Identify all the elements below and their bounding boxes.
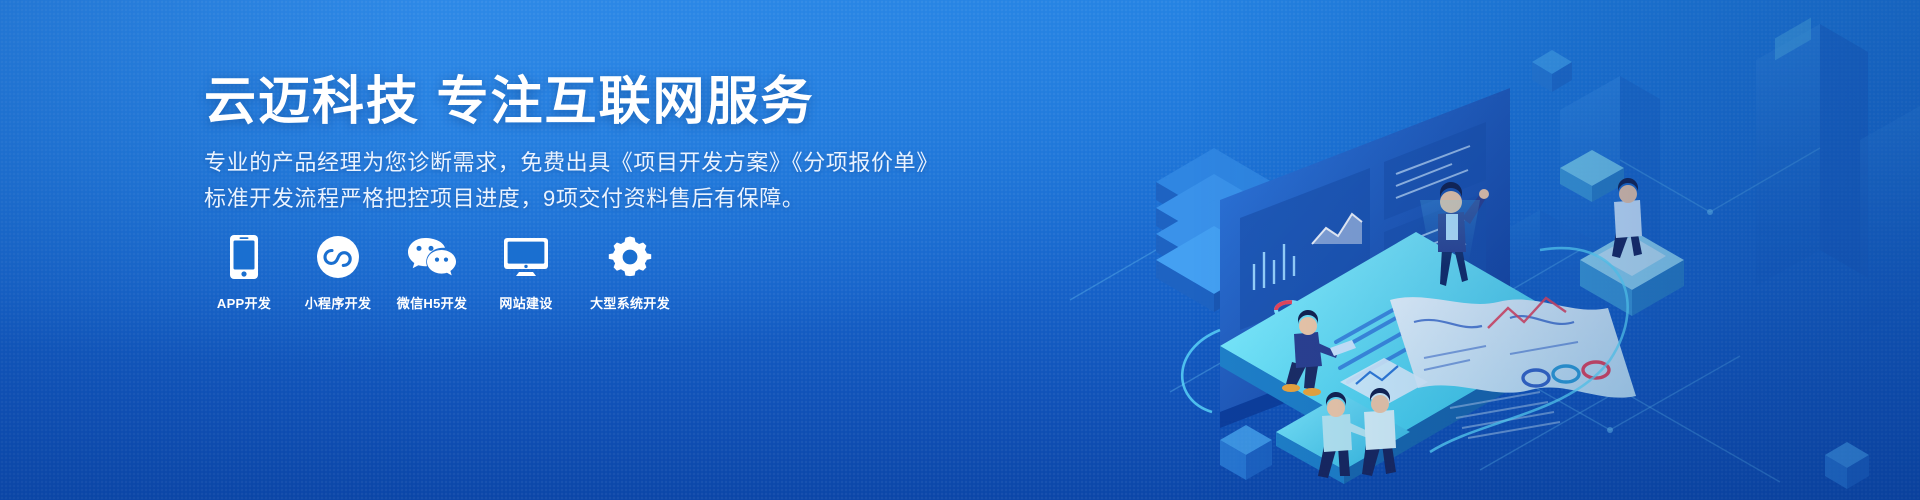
gear-icon: [602, 232, 658, 282]
service-item-mini-program[interactable]: 小程序开发: [302, 232, 374, 312]
service-item-large-system[interactable]: 大型系统开发: [584, 232, 676, 312]
service-list: APP开发 小程序开发: [208, 232, 676, 312]
subtitle-line-1: 专业的产品经理为您诊断需求，免费出具《项目开发方案》《分项报价单》: [204, 150, 939, 175]
service-item-app[interactable]: APP开发: [208, 232, 280, 312]
hero-banner: 云迈科技 专注互联网服务 专业的产品经理为您诊断需求，免费出具《项目开发方案》《…: [0, 0, 1920, 500]
subtitle-line-2: 标准开发流程严格把控项目进度，9项交付资料售后有保障。: [204, 181, 939, 217]
service-item-website[interactable]: 网站建设: [490, 232, 562, 312]
mobile-phone-icon: [216, 232, 272, 282]
hero-content: 云迈科技 专注互联网服务 专业的产品经理为您诊断需求，免费出具《项目开发方案》《…: [204, 0, 924, 500]
hero-subtitle: 专业的产品经理为您诊断需求，免费出具《项目开发方案》《分项报价单》 标准开发流程…: [204, 145, 939, 217]
service-label: 微信H5开发: [397, 296, 467, 312]
service-item-wechat-h5[interactable]: 微信H5开发: [396, 232, 468, 312]
service-label: APP开发: [217, 296, 271, 312]
service-label: 大型系统开发: [590, 296, 670, 312]
illustration-isometric-data-platform: [920, 0, 1920, 500]
mini-program-icon: [310, 232, 366, 282]
service-label: 网站建设: [499, 296, 552, 312]
service-label: 小程序开发: [305, 296, 372, 312]
wechat-icon: [404, 232, 460, 282]
monitor-icon: [498, 232, 554, 282]
page-title: 云迈科技 专注互联网服务: [204, 72, 814, 132]
